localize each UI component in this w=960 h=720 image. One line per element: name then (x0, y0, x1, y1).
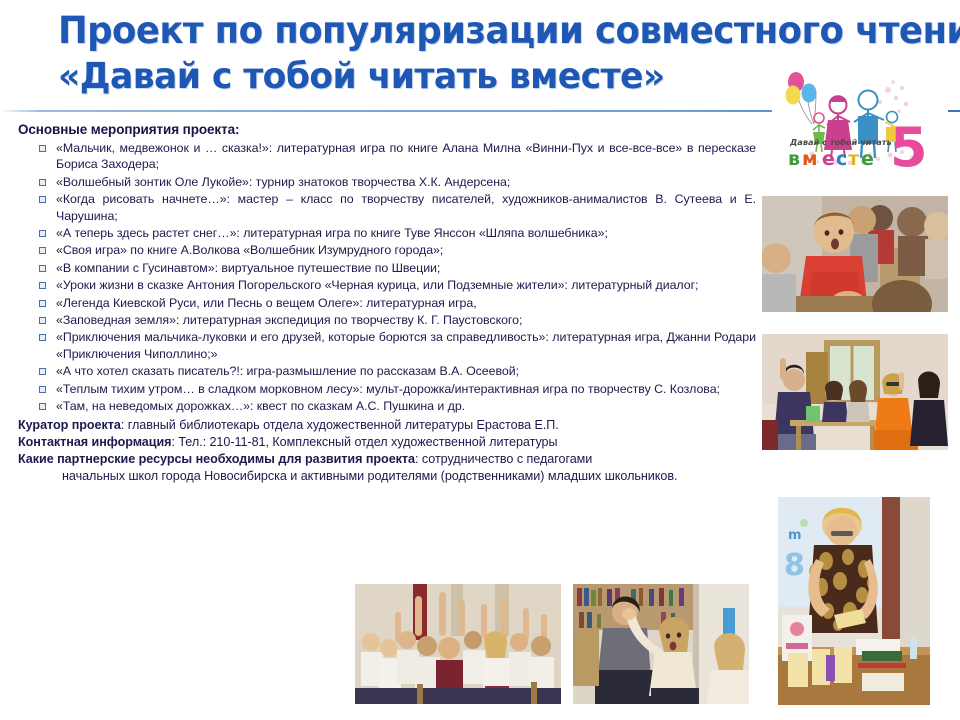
project-content: Основные мероприятия проекта: «Мальчик, … (18, 121, 756, 485)
list-item: «Там, на неведомых дорожках…»: квест по … (36, 398, 756, 414)
svg-text:в: в (788, 148, 800, 170)
contact-value: : Тел.: 210-11-81, Комплексный отдел худ… (171, 435, 557, 449)
svg-text:т: т (848, 148, 859, 170)
photo-class (355, 584, 561, 704)
page-title: Проект по популяризации совместного чтен… (58, 8, 858, 100)
logo-artwork: Давай с тобой читать в м е с т е 5 (772, 62, 948, 178)
contact-line: Контактная информация: Тел.: 210-11-81, … (18, 434, 756, 451)
page-title-line-1: Проект по популяризации совместного чтен… (58, 8, 826, 54)
svg-text:8: 8 (784, 548, 805, 583)
balloon-yellow (786, 86, 801, 105)
partners-value-continued: начальных школ города Новосибирска и акт… (18, 468, 756, 485)
list-item: «Мальчик, медвежонок и … сказка!»: литер… (36, 140, 756, 173)
svg-text:m: m (788, 528, 802, 543)
project-logo: Давай с тобой читать в м е с т е 5 (772, 62, 948, 178)
list-item: «Волшебный зонтик Оле Лукойе»: турнир зн… (36, 174, 756, 190)
partners-line: Какие партнерские ресурсы необходимы для… (18, 451, 756, 485)
photo-librarian-image: m 8 (778, 497, 930, 705)
partners-value: : сотрудничество с педагогами (415, 452, 592, 466)
curator-line: Куратор проекта: главный библиотекарь от… (18, 417, 756, 434)
svg-text:с: с (836, 148, 847, 170)
photo-girl (573, 584, 749, 704)
svg-text:е: е (822, 148, 835, 170)
partners-label: Какие партнерские ресурсы необходимы для… (18, 452, 415, 466)
curator-value: : главный библиотекарь отдела художестве… (121, 418, 559, 432)
svg-text:е: е (861, 148, 874, 170)
list-item: «Приключения мальчика-луковки и его друз… (36, 329, 756, 362)
events-list: «Мальчик, медвежонок и … сказка!»: литер… (36, 140, 756, 415)
list-item: «А теперь здесь растет снег…»: литератур… (36, 225, 756, 241)
list-item: «Заповедная земля»: литературная экспеди… (36, 312, 756, 328)
list-item: «Легенда Киевской Руси, или Песнь о веще… (36, 295, 756, 311)
events-heading: Основные мероприятия проекта: (18, 121, 756, 138)
photo-girl-image (573, 584, 749, 704)
list-item: «Теплым тихим утром… в сладком морковном… (36, 381, 756, 397)
balloon-blue (802, 84, 817, 103)
list-item: «В компании с Гусинавтом»: виртуальное п… (36, 260, 756, 276)
list-item: «Уроки жизни в сказке Антония Погорельск… (36, 277, 756, 293)
photo-class-image (355, 584, 561, 704)
list-item: «А что хотел сказать писатель?!: игра-ра… (36, 363, 756, 379)
photo-boy-image (762, 196, 948, 312)
logo-tagline: Давай с тобой читать (789, 137, 892, 147)
photo-boy (762, 196, 948, 312)
list-item: «Когда рисовать начнете…»: мастер – клас… (36, 191, 756, 224)
list-item: «Своя игра» по книге А.Волкова «Волшебни… (36, 242, 756, 258)
photo-librarian: m 8 (778, 497, 930, 705)
contact-label: Контактная информация (18, 435, 171, 449)
project-info: Куратор проекта: главный библиотекарь от… (18, 417, 756, 485)
curator-label: Куратор проекта (18, 418, 121, 432)
photo-audience-image (762, 334, 948, 450)
page-title-line-2: «Давай с тобой читать вместе» (58, 54, 826, 100)
logo-anniversary-number: 5 (890, 116, 928, 178)
photo-audience (762, 334, 948, 450)
svg-text:м: м (802, 148, 818, 170)
